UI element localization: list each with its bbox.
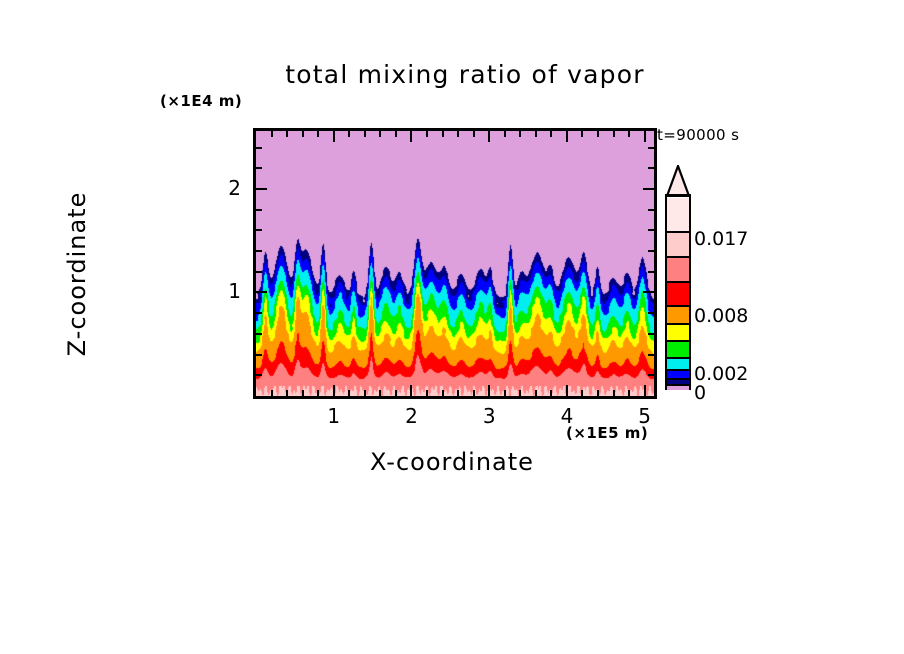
axis-tick	[504, 131, 506, 137]
axis-tick	[256, 271, 262, 273]
axis-tick	[256, 147, 262, 149]
axis-tick	[613, 131, 615, 137]
axis-tick	[256, 333, 262, 335]
colorbar-band	[667, 198, 689, 232]
axis-tick	[644, 385, 646, 396]
axis-tick	[426, 131, 428, 137]
colorbar	[665, 194, 691, 390]
axis-tick	[644, 131, 646, 142]
axis-tick	[566, 131, 568, 142]
colorbar-separator	[667, 256, 689, 258]
axis-tick	[256, 291, 267, 293]
x-tick-label: 1	[314, 404, 354, 428]
axis-tick	[648, 250, 654, 252]
colorbar-extend-arrow	[665, 165, 691, 197]
colorbar-band	[667, 341, 689, 358]
axis-tick	[256, 374, 262, 376]
colorbar-band	[667, 282, 689, 307]
axis-tick	[473, 131, 475, 137]
plot-area	[253, 128, 657, 399]
axis-tick	[442, 390, 444, 396]
axis-tick	[256, 250, 262, 252]
axis-tick	[271, 131, 273, 137]
x-axis-title: X-coordinate	[253, 448, 651, 476]
axis-tick	[333, 385, 335, 396]
axis-tick	[581, 390, 583, 396]
colorbar-band	[667, 257, 689, 282]
axis-tick	[286, 390, 288, 396]
axis-tick	[628, 390, 630, 396]
colorbar-tick-label: 0.008	[694, 305, 748, 327]
x-tick-label: 3	[469, 404, 509, 428]
axis-tick	[379, 131, 381, 137]
colorbar-separator	[667, 281, 689, 283]
colorbar-tick-label: 0.017	[694, 228, 748, 250]
axis-tick	[648, 333, 654, 335]
axis-tick	[648, 229, 654, 231]
colorbar-separator	[667, 323, 689, 325]
axis-tick	[317, 390, 319, 396]
axis-tick	[333, 131, 335, 142]
axis-tick	[519, 131, 521, 137]
axis-tick	[597, 390, 599, 396]
colorbar-separator	[667, 305, 689, 307]
axis-tick	[256, 312, 262, 314]
axis-tick	[395, 390, 397, 396]
colorbar-band	[667, 232, 689, 257]
axis-tick	[410, 131, 412, 142]
contour-field	[256, 131, 654, 396]
axis-tick	[256, 188, 267, 190]
axis-tick	[648, 167, 654, 169]
axis-tick	[364, 131, 366, 137]
axis-tick	[504, 390, 506, 396]
axis-tick	[488, 131, 490, 142]
axis-tick	[379, 390, 381, 396]
axis-tick	[628, 131, 630, 137]
axis-tick	[648, 312, 654, 314]
colorbar-band	[667, 306, 689, 323]
axis-tick	[648, 209, 654, 211]
y-axis-unit-label: (×1E4 m)	[160, 92, 242, 110]
axis-tick	[473, 390, 475, 396]
axis-tick	[256, 354, 262, 356]
axis-tick	[457, 390, 459, 396]
axis-tick	[519, 390, 521, 396]
axis-tick	[256, 209, 262, 211]
axis-tick	[442, 131, 444, 137]
axis-tick	[613, 390, 615, 396]
axis-tick	[317, 131, 319, 137]
axis-tick	[410, 385, 412, 396]
axis-tick	[648, 374, 654, 376]
axis-tick	[535, 390, 537, 396]
axis-tick	[457, 131, 459, 137]
timestamp-annotation: t=90000 s	[657, 126, 739, 144]
axis-tick	[550, 131, 552, 137]
axis-tick	[581, 131, 583, 137]
axis-tick	[643, 188, 654, 190]
axis-tick	[348, 390, 350, 396]
axis-tick	[364, 390, 366, 396]
axis-tick	[426, 390, 428, 396]
axis-tick	[286, 131, 288, 137]
colorbar-separator	[667, 231, 689, 233]
axis-tick	[550, 390, 552, 396]
axis-tick	[648, 354, 654, 356]
colorbar-separator	[667, 384, 689, 386]
colorbar-band	[667, 324, 689, 341]
axis-tick	[597, 131, 599, 137]
axis-tick	[256, 229, 262, 231]
axis-tick	[302, 131, 304, 137]
axis-tick	[395, 131, 397, 137]
axis-tick	[256, 167, 262, 169]
colorbar-separator	[667, 378, 689, 380]
figure-canvas: total mixing ratio of vapor (×1E4 m) (×1…	[0, 0, 904, 654]
colorbar-tick-label: 0	[694, 382, 706, 404]
colorbar-separator	[667, 357, 689, 359]
axis-tick	[348, 131, 350, 137]
y-tick-label: 2	[201, 176, 241, 200]
colorbar-separator	[667, 340, 689, 342]
x-tick-label: 2	[391, 404, 431, 428]
colorbar-separator	[667, 369, 689, 371]
axis-tick	[643, 291, 654, 293]
axis-tick	[488, 385, 490, 396]
y-axis-title: Z-coordinate	[63, 134, 91, 414]
axis-tick	[648, 271, 654, 273]
y-tick-label: 1	[201, 279, 241, 303]
axis-tick	[648, 147, 654, 149]
axis-tick	[566, 385, 568, 396]
axis-tick	[271, 390, 273, 396]
page-title: total mixing ratio of vapor	[250, 60, 680, 89]
x-tick-label: 5	[625, 404, 665, 428]
axis-tick	[302, 390, 304, 396]
axis-tick	[535, 131, 537, 137]
x-tick-label: 4	[547, 404, 587, 428]
